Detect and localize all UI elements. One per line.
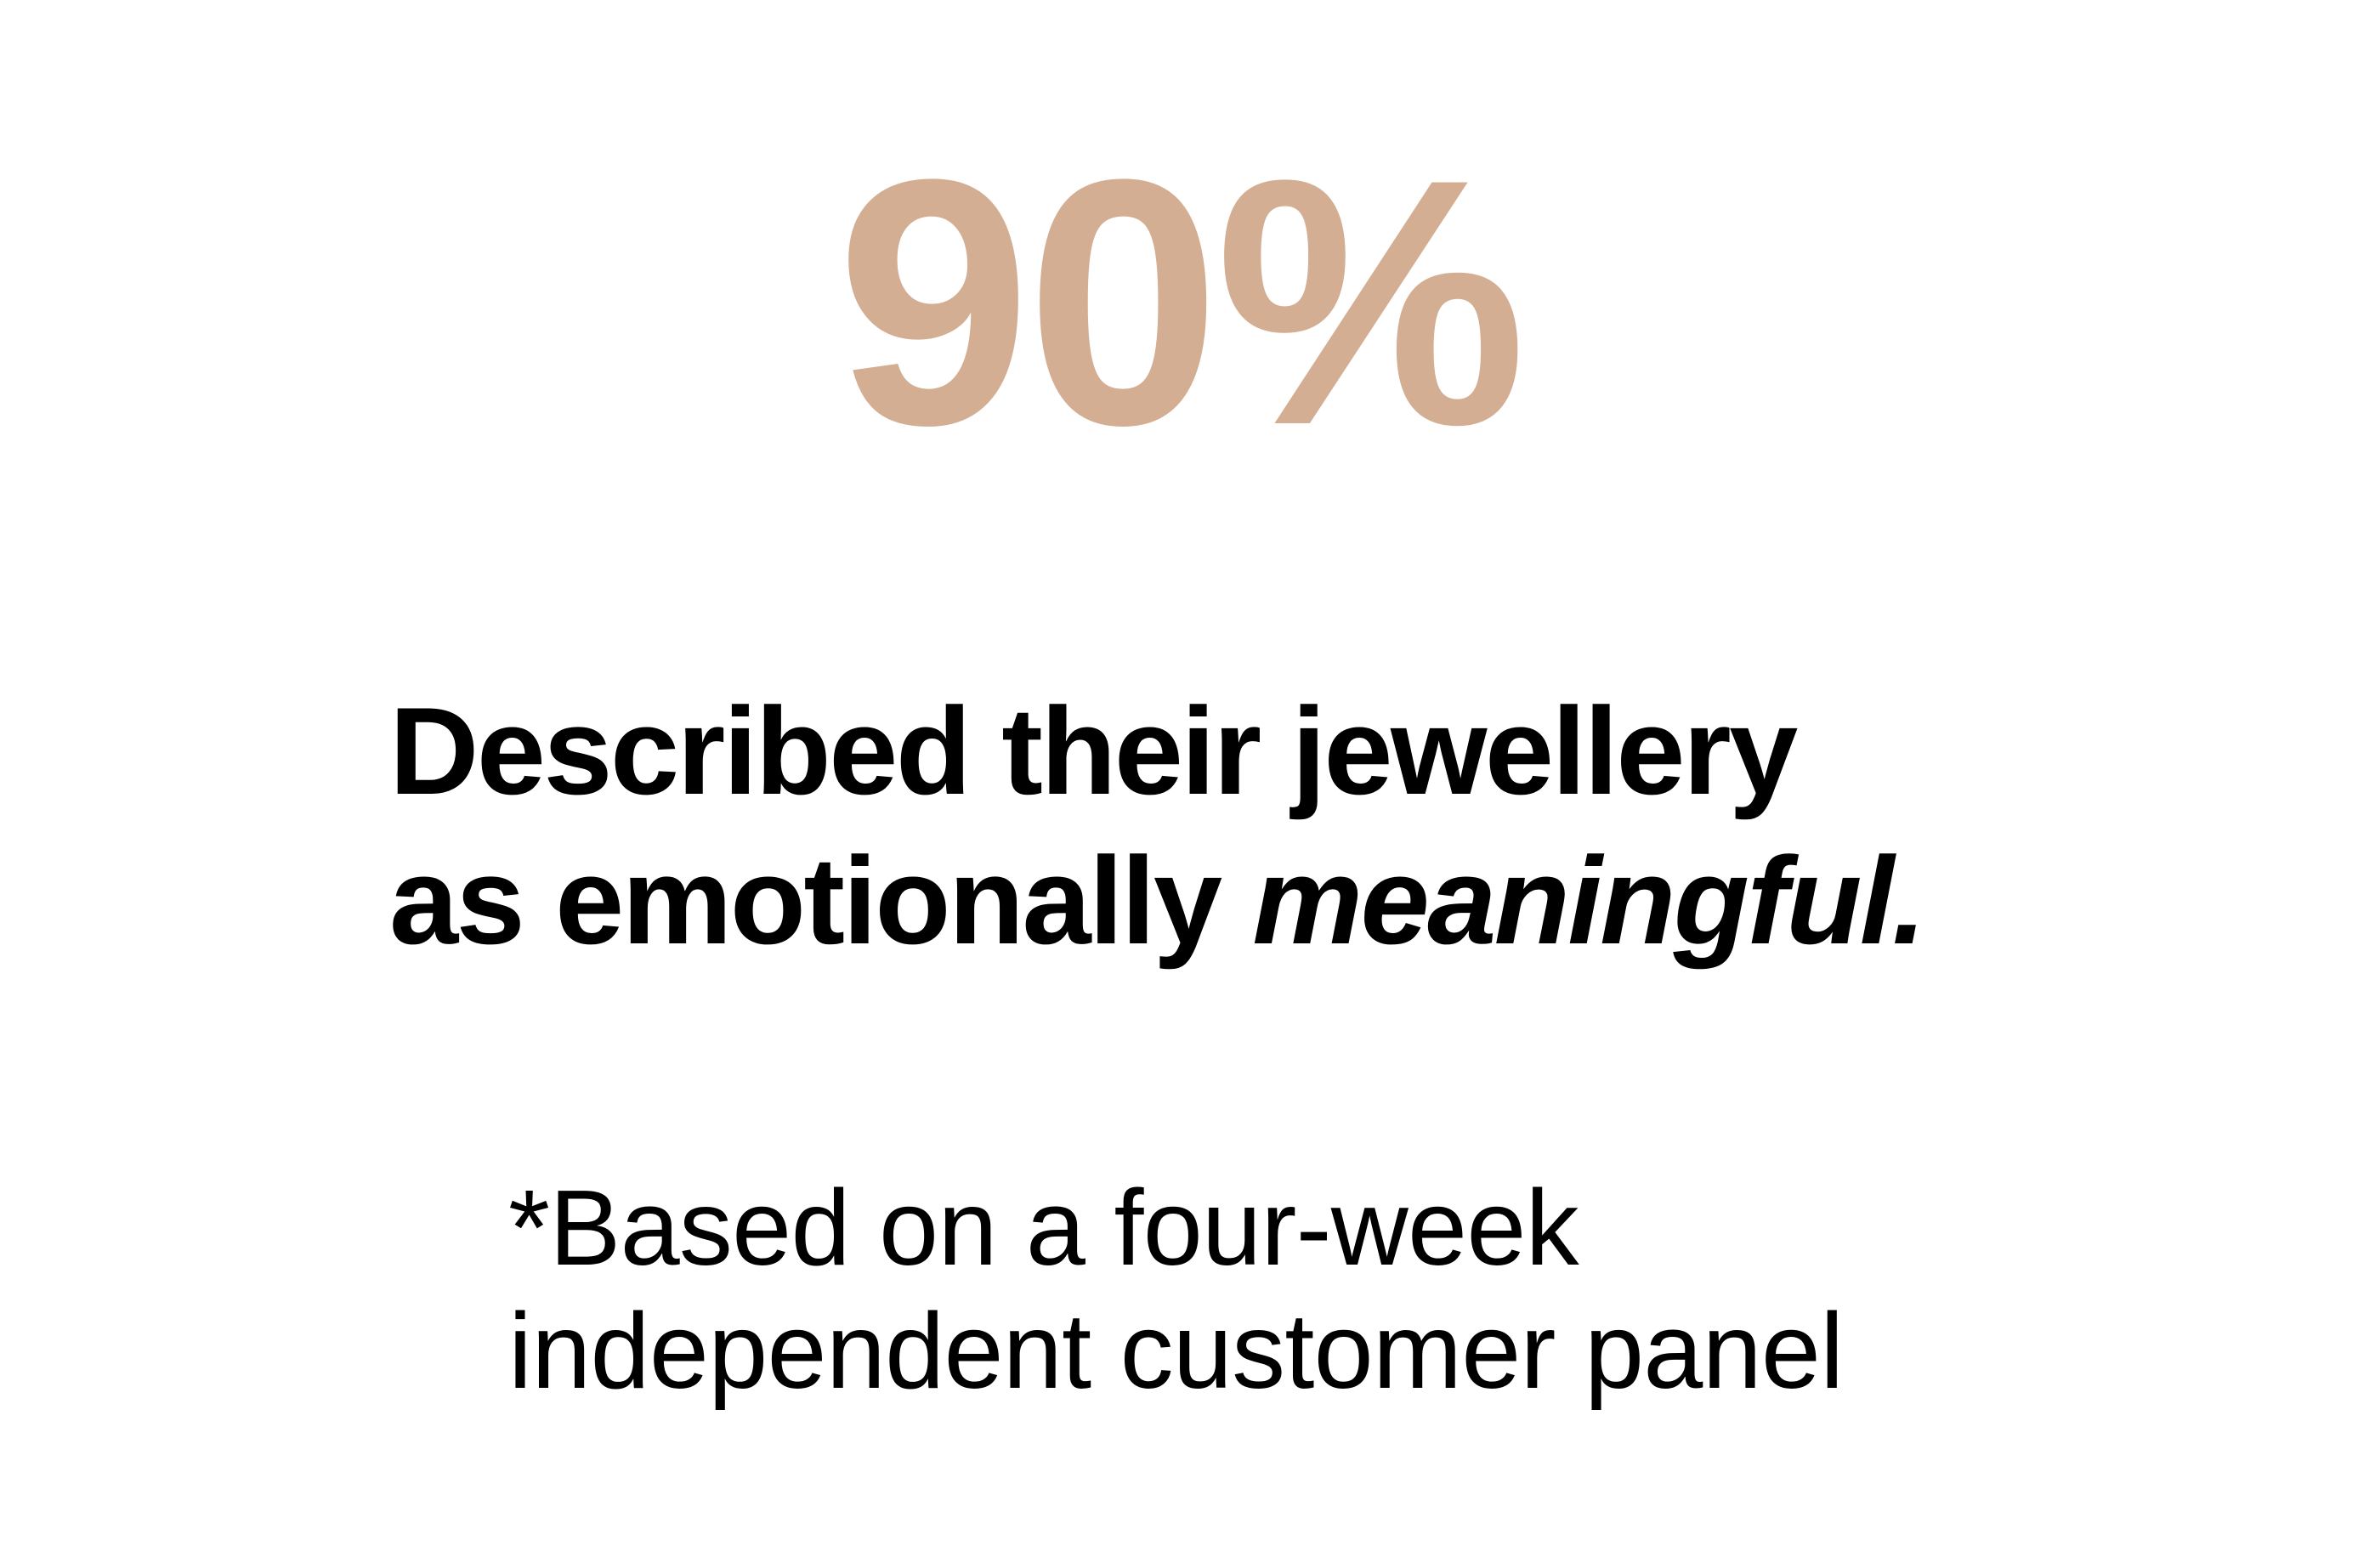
headline-line-2: as emotionally meaningful. (389, 826, 2055, 976)
headline-line-2-prefix: as emotionally (389, 831, 1252, 970)
stat-block: 90% (0, 127, 2358, 478)
footnote: *Based on a four-week independent custom… (508, 1166, 2038, 1412)
stat-value: 90% (836, 127, 1522, 478)
footnote-line-1: *Based on a four-week (508, 1166, 2038, 1289)
headline: Described their jewellery as emotionally… (389, 676, 2055, 976)
headline-line-1: Described their jewellery (389, 676, 2055, 826)
statistic-slide: 90% Described their jewellery as emotion… (0, 0, 2358, 1568)
footnote-line-2: independent customer panel (508, 1289, 2038, 1412)
headline-emphasis: meaningful. (1252, 831, 1924, 970)
